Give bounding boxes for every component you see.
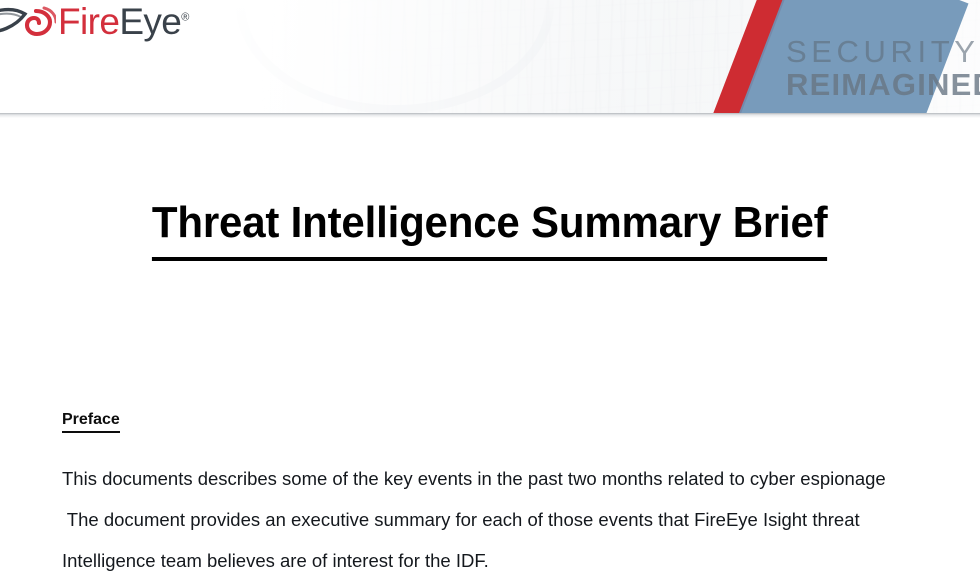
page-title-text: Threat Intelligence Summary Brief bbox=[152, 198, 828, 261]
banner-bottom-shadow bbox=[0, 113, 980, 118]
security-reimagined-tagline: SECURITY REIMAGINED bbox=[786, 36, 980, 100]
page-header-banner: SECURITY REIMAGINED FireEye® bbox=[0, 0, 980, 113]
registered-trademark-mark: ® bbox=[181, 11, 189, 23]
tagline-security: SECURITY bbox=[786, 36, 980, 67]
paragraph-line: This documents describes some of the key… bbox=[62, 458, 980, 499]
preface-paragraph: This documents describes some of the key… bbox=[62, 458, 980, 581]
fireeye-wordmark: FireEye® bbox=[58, 3, 189, 40]
wordmark-eye: Eye bbox=[119, 1, 181, 42]
section-heading-text: Preface bbox=[62, 411, 120, 433]
fireeye-eye-icon bbox=[0, 4, 56, 40]
tagline-reimagined: REIMAGINED bbox=[786, 69, 980, 100]
document-page: SECURITY REIMAGINED FireEye® Threat Inte… bbox=[0, 0, 980, 588]
paragraph-line: Intelligence team believes are of intere… bbox=[62, 540, 980, 581]
fireeye-logo: FireEye® bbox=[0, 2, 189, 42]
wordmark-fire: Fire bbox=[58, 1, 119, 42]
paragraph-line: The document provides an executive summa… bbox=[62, 499, 980, 540]
page-title: Threat Intelligence Summary Brief bbox=[0, 198, 980, 261]
section-heading-preface: Preface bbox=[62, 411, 120, 433]
